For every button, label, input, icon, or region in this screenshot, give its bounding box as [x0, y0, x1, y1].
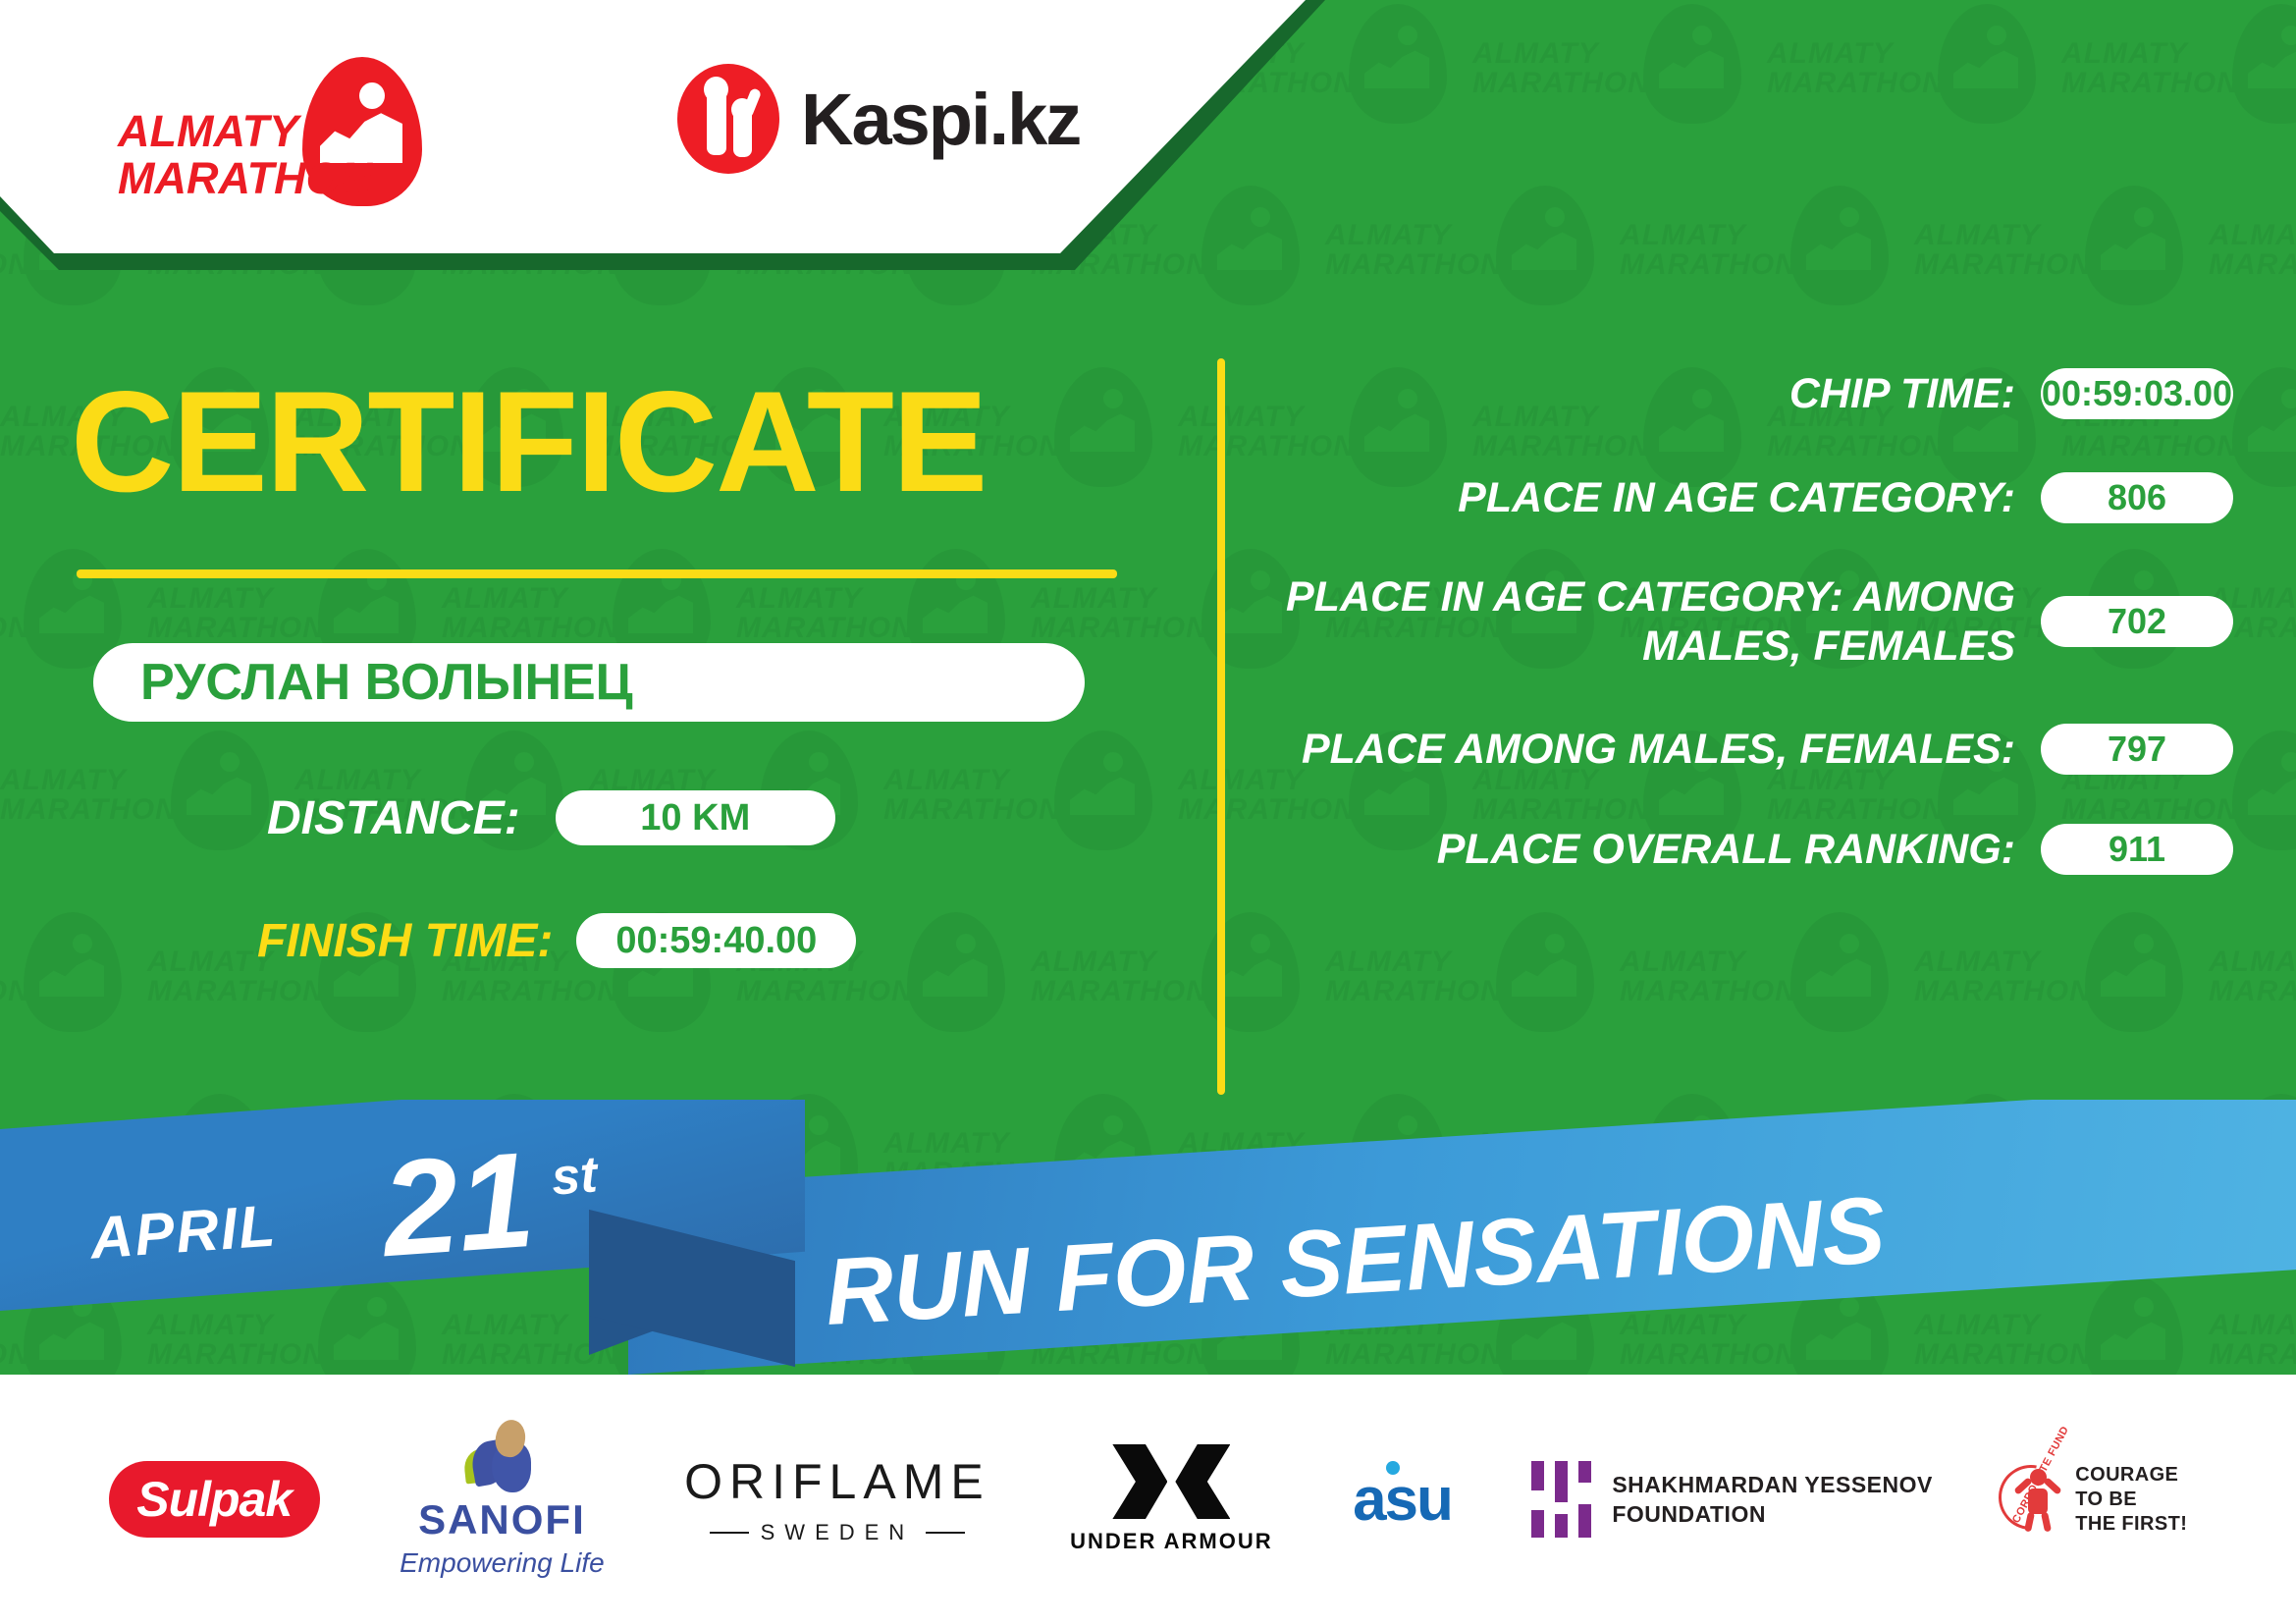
watermark-text: ALMATYMARATHON [883, 766, 1061, 825]
watermark-text: ALMATYMARATHON [1325, 947, 1503, 1006]
watermark-runner-icon [2085, 912, 2183, 1032]
oriflame-rule-left [710, 1532, 749, 1534]
almaty-marathon-wordmark: ALMATY MARATHON [118, 108, 372, 202]
courage-leg-left-icon [2024, 1511, 2035, 1532]
stat-label: PLACE IN AGE CATEGORY: [1261, 473, 2041, 522]
event-ribbon: APRIL 21 st RUN FOR SENSATIONS [0, 1100, 2296, 1394]
asu-wordmark-text: asu [1353, 1466, 1452, 1534]
watermark-runner-icon [24, 912, 122, 1032]
stat-row: PLACE IN AGE CATEGORY: 806 [1261, 472, 2233, 523]
stat-row: PLACE AMONG MALES, FEMALES: 797 [1261, 724, 2233, 775]
shakhmardan-wordmark: SHAKHMARDAN YESSENOV FOUNDATION [1612, 1470, 1933, 1529]
finish-time-row: FINISH TIME: 00:59:40.00 [257, 913, 856, 968]
watermark-runner-icon [1496, 912, 1594, 1032]
watermark-text: ALMATYMARATHON [1031, 584, 1208, 643]
sanofi-wordmark: SANOFI [418, 1496, 586, 1543]
almaty-line-1: ALMATY [118, 108, 372, 155]
stat-row: PLACE IN AGE CATEGORY: AMONG MALES, FEMA… [1261, 572, 2233, 671]
watermark-text: ALMATYMARATHON [1472, 39, 1650, 98]
watermark-text: ALMATYMARATHON [442, 584, 619, 643]
watermark-text: ALMATYMARATHON [1914, 221, 2092, 280]
watermark-runner-icon [1496, 186, 1594, 305]
participant-name-field: РУСЛАН ВОЛЫНЕЦ [93, 643, 1085, 722]
header-panel: ALMATY MARATHON Kaspi.kz [0, 0, 1325, 285]
title-underline [77, 569, 1117, 578]
sponsor-under-armour: UNDER ARMOUR [1070, 1444, 1273, 1554]
kaspi-logo: Kaspi.kz [677, 61, 1080, 177]
watermark-text: ALMATYMARATHON [1767, 39, 1945, 98]
watermark-runner-icon [1790, 912, 1889, 1032]
watermark-runner-icon [907, 912, 1005, 1032]
watermark-tile: ALMATYMARATHON [1325, 182, 1620, 363]
under-armour-right-wing-icon [1175, 1444, 1230, 1519]
watermark-runner-icon [1790, 186, 1889, 305]
under-armour-wordmark: UNDER ARMOUR [1070, 1529, 1273, 1554]
oriflame-wordmark: ORIFLAME [684, 1453, 990, 1510]
finish-time-value: 00:59:40.00 [576, 913, 856, 968]
oriflame-subtitle: SWEDEN [761, 1520, 915, 1545]
distance-value: 10 KM [556, 790, 835, 845]
distance-row: DISTANCE: 10 KM [267, 790, 835, 845]
stat-value: 00:59:03.00 [2041, 368, 2233, 419]
watermark-text: ALMATYMARATHON [2061, 39, 2239, 98]
kaspi-mark-icon [677, 61, 779, 177]
courage-fund-wordmark: COURAGE TO BE THE FIRST! [2075, 1463, 2187, 1537]
watermark-text: ALMATYMARATHON [147, 584, 325, 643]
watermark-tile: ALMATYMARATHON [1620, 182, 1914, 363]
under-armour-icon [1106, 1444, 1236, 1519]
bar-4 [1531, 1510, 1544, 1538]
courage-body-icon [2028, 1489, 2048, 1514]
kaspi-wordmark: Kaspi.kz [801, 78, 1080, 161]
asu-wordmark: asu [1353, 1465, 1452, 1535]
watermark-tile: ALMATYMARATHON [1767, 0, 2061, 182]
watermark-text: ALMATYMARATHON [1325, 221, 1503, 280]
watermark-text: ALMATYMARATHON [2209, 947, 2296, 1006]
sponsor-courage-fund: CORPORATE FUND COURAGE TO BE THE FIRST! [2012, 1463, 2187, 1537]
watermark-tile: ALMATYMARATHON [2061, 0, 2296, 182]
sponsor-oriflame: ORIFLAME SWEDEN [684, 1453, 990, 1545]
column-divider [1217, 358, 1225, 1095]
sponsor-sulpak: Sulpak [109, 1461, 320, 1538]
watermark-text: ALMATYMARATHON [1620, 221, 1797, 280]
asu-dot-icon [1386, 1461, 1400, 1475]
stat-value: 797 [2041, 724, 2233, 775]
watermark-tile: ALMATYMARATHON [1914, 182, 2209, 363]
bar-1 [1531, 1461, 1544, 1490]
watermark-tile: ALMATYMARATHON [1914, 908, 2209, 1090]
watermark-runner-icon [1643, 4, 1741, 124]
stat-value: 702 [2041, 596, 2233, 647]
watermark-tile: ALMATYMARATHON [2209, 182, 2296, 363]
courage-person-icon [2012, 1467, 2063, 1532]
watermark-runner-icon [2232, 367, 2296, 487]
watermark-runner-icon [1054, 367, 1152, 487]
courage-fund-lockup: CORPORATE FUND COURAGE TO BE THE FIRST! [2012, 1463, 2187, 1537]
courage-line-3: THE FIRST! [2075, 1512, 2187, 1537]
watermark-tile: ALMATYMARATHON [883, 727, 1178, 908]
watermark-tile: ALMATYMARATHON [1472, 0, 1767, 182]
shakhmardan-line-2: FOUNDATION [1612, 1499, 1933, 1529]
sponsor-asu: asu [1353, 1465, 1452, 1535]
watermark-runner-icon [2232, 731, 2296, 850]
bar-3 [1578, 1461, 1591, 1483]
bar-6 [1578, 1504, 1591, 1538]
watermark-text: ALMATYMARATHON [1031, 947, 1208, 1006]
stat-row: CHIP TIME: 00:59:03.00 [1261, 368, 2233, 419]
sponsor-bar: Sulpak SANOFI Empowering Life ORIFLAME S… [0, 1375, 2296, 1624]
stat-label: PLACE IN AGE CATEGORY: AMONG MALES, FEMA… [1261, 572, 2041, 671]
runner-head-icon [359, 82, 385, 109]
courage-line-2: TO BE [2075, 1488, 2187, 1512]
watermark-runner-icon [1349, 4, 1447, 124]
watermark-text: ALMATYMARATHON [0, 766, 178, 825]
kaspi-circle-icon [677, 64, 779, 174]
shakhmardan-bars-icon [1531, 1461, 1592, 1538]
watermark-runner-icon [171, 731, 269, 850]
participant-name-value: РУСЛАН ВОЛЫНЕЦ [140, 653, 633, 712]
distance-label: DISTANCE: [267, 791, 520, 845]
event-day: 21 [378, 1132, 538, 1277]
sulpak-badge: Sulpak [109, 1461, 320, 1538]
watermark-runner-icon [1201, 912, 1300, 1032]
sponsor-shakhmardan: SHAKHMARDAN YESSENOV FOUNDATION [1531, 1461, 1933, 1538]
watermark-tile: ALMATYMARATHON [1325, 908, 1620, 1090]
watermark-runner-icon [2232, 4, 2296, 124]
watermark-runner-icon [1054, 731, 1152, 850]
shakhmardan-line-1: SHAKHMARDAN YESSENOV [1612, 1470, 1933, 1499]
sponsor-sanofi: SANOFI Empowering Life [400, 1420, 605, 1579]
event-month: APRIL [88, 1191, 279, 1272]
stat-value: 911 [2041, 824, 2233, 875]
watermark-text: ALMATYMARATHON [0, 584, 30, 643]
stats-list: CHIP TIME: 00:59:03.00 PLACE IN AGE CATE… [1261, 368, 2233, 912]
watermark-tile: ALMATYMARATHON [1620, 908, 1914, 1090]
watermark-tile: ALMATYMARATHON [0, 727, 294, 908]
courage-leg-right-icon [2041, 1511, 2052, 1532]
stat-label: PLACE OVERALL RANKING: [1261, 825, 2041, 874]
watermark-text: ALMATYMARATHON [736, 584, 914, 643]
kaspi-figure-body-icon [707, 79, 726, 155]
shakhmardan-lockup: SHAKHMARDAN YESSENOV FOUNDATION [1531, 1461, 1933, 1538]
watermark-runner-icon [1938, 4, 2036, 124]
almaty-marathon-logo: ALMATY MARATHON [118, 57, 442, 189]
stat-row: PLACE OVERALL RANKING: 911 [1261, 824, 2233, 875]
oriflame-rule-right [926, 1532, 965, 1534]
watermark-text: ALMATYMARATHON [1620, 947, 1797, 1006]
oriflame-subtitle-row: SWEDEN [710, 1520, 966, 1545]
finish-time-label: FINISH TIME: [257, 914, 553, 968]
stat-value: 806 [2041, 472, 2233, 523]
almaty-line-2: MARATHON [118, 155, 372, 202]
watermark-runner-icon [24, 549, 122, 669]
watermark-text: ALMATYMARATHON [2209, 221, 2296, 280]
under-armour-left-wing-icon [1112, 1444, 1167, 1519]
watermark-text: ALMATYMARATHON [0, 947, 30, 1006]
stat-label: CHIP TIME: [1261, 369, 2041, 418]
watermark-tile: ALMATYMARATHON [0, 908, 147, 1090]
watermark-tile: ALMATYMARATHON [2209, 908, 2296, 1090]
watermark-text: ALMATYMARATHON [1914, 947, 2092, 1006]
sulpak-wordmark: Sulpak [136, 1471, 292, 1528]
stat-label: PLACE AMONG MALES, FEMALES: [1261, 725, 2041, 774]
sanofi-tagline: Empowering Life [400, 1547, 605, 1579]
watermark-tile: ALMATYMARATHON [1031, 908, 1325, 1090]
page-title: CERTIFICATE [71, 368, 986, 515]
event-day-suffix: st [550, 1145, 599, 1207]
bar-5 [1555, 1514, 1568, 1538]
courage-line-1: COURAGE [2075, 1463, 2187, 1488]
bar-2 [1555, 1461, 1568, 1502]
watermark-runner-icon [2085, 186, 2183, 305]
sanofi-figure-icon [458, 1420, 545, 1492]
